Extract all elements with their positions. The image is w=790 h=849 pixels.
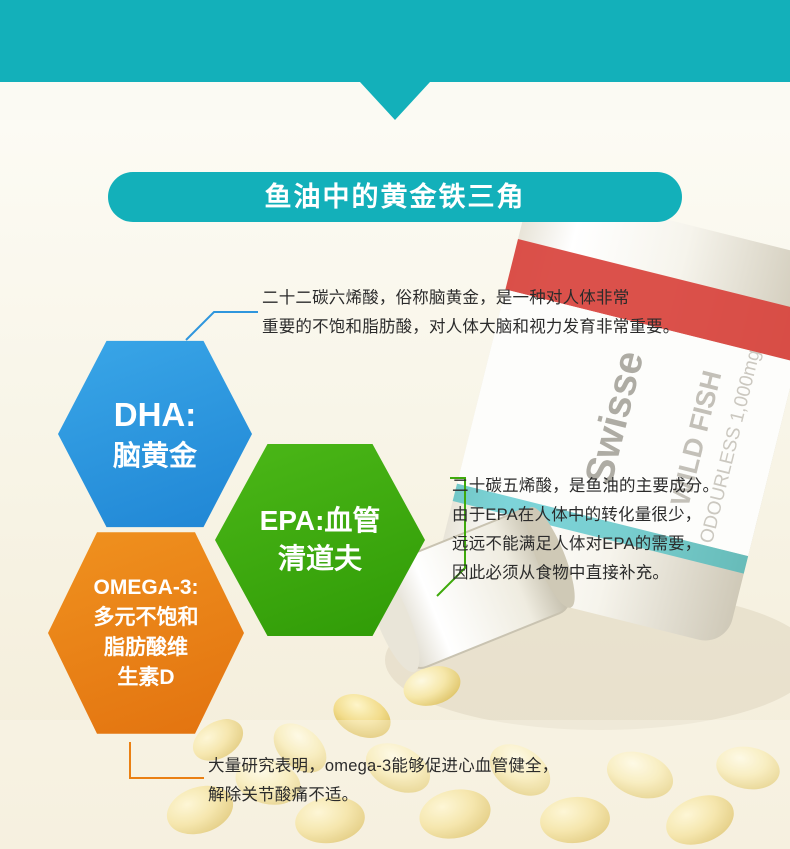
description-epa-line4: 因此必须从食物中直接补充。 [452, 559, 762, 588]
description-epa-line2: 由于EPA在人体中的转化量很少， [452, 501, 762, 530]
hexagon-dha-line1: DHA: [113, 393, 197, 438]
description-epa-line3: 远远不能满足人体对EPA的需要， [452, 530, 762, 559]
section-title-text: 鱼油中的黄金铁三角 [108, 172, 682, 222]
hexagon-omega-line2: 多元不饱和 [94, 603, 199, 633]
hexagon-omega-line1: OMEGA-3: [94, 573, 199, 603]
hexagon-epa-line1: EPA:血管 [260, 502, 381, 540]
infographic-page: Swisse WILD FISH ODOURLESS 1,000mg [0, 0, 790, 849]
description-omega: 大量研究表明，omega-3能够促进心血管健全， 解除关节酸痛不适。 [208, 752, 638, 810]
description-omega-line1: 大量研究表明，omega-3能够促进心血管健全， [208, 752, 638, 781]
hexagon-dha-line2: 脑黄金 [113, 437, 197, 475]
description-epa-line1: 二十碳五烯酸，是鱼油的主要成分。 [452, 472, 762, 501]
description-dha-line1: 二十二碳六烯酸，俗称脑黄金，是一种对人体非常 [262, 284, 722, 313]
description-omega-line2: 解除关节酸痛不适。 [208, 781, 638, 810]
description-dha: 二十二碳六烯酸，俗称脑黄金，是一种对人体非常 重要的不饱和脂肪酸，对人体大脑和视… [262, 284, 722, 342]
hexagon-omega-line3: 脂肪酸维 [94, 633, 199, 663]
hexagon-epa-line2: 清道夫 [260, 540, 381, 578]
description-dha-line2: 重要的不饱和脂肪酸，对人体大脑和视力发育非常重要。 [262, 313, 722, 342]
hexagon-omega-line4: 生素D [94, 663, 199, 693]
description-epa: 二十碳五烯酸，是鱼油的主要成分。 由于EPA在人体中的转化量很少， 远远不能满足… [452, 472, 762, 588]
